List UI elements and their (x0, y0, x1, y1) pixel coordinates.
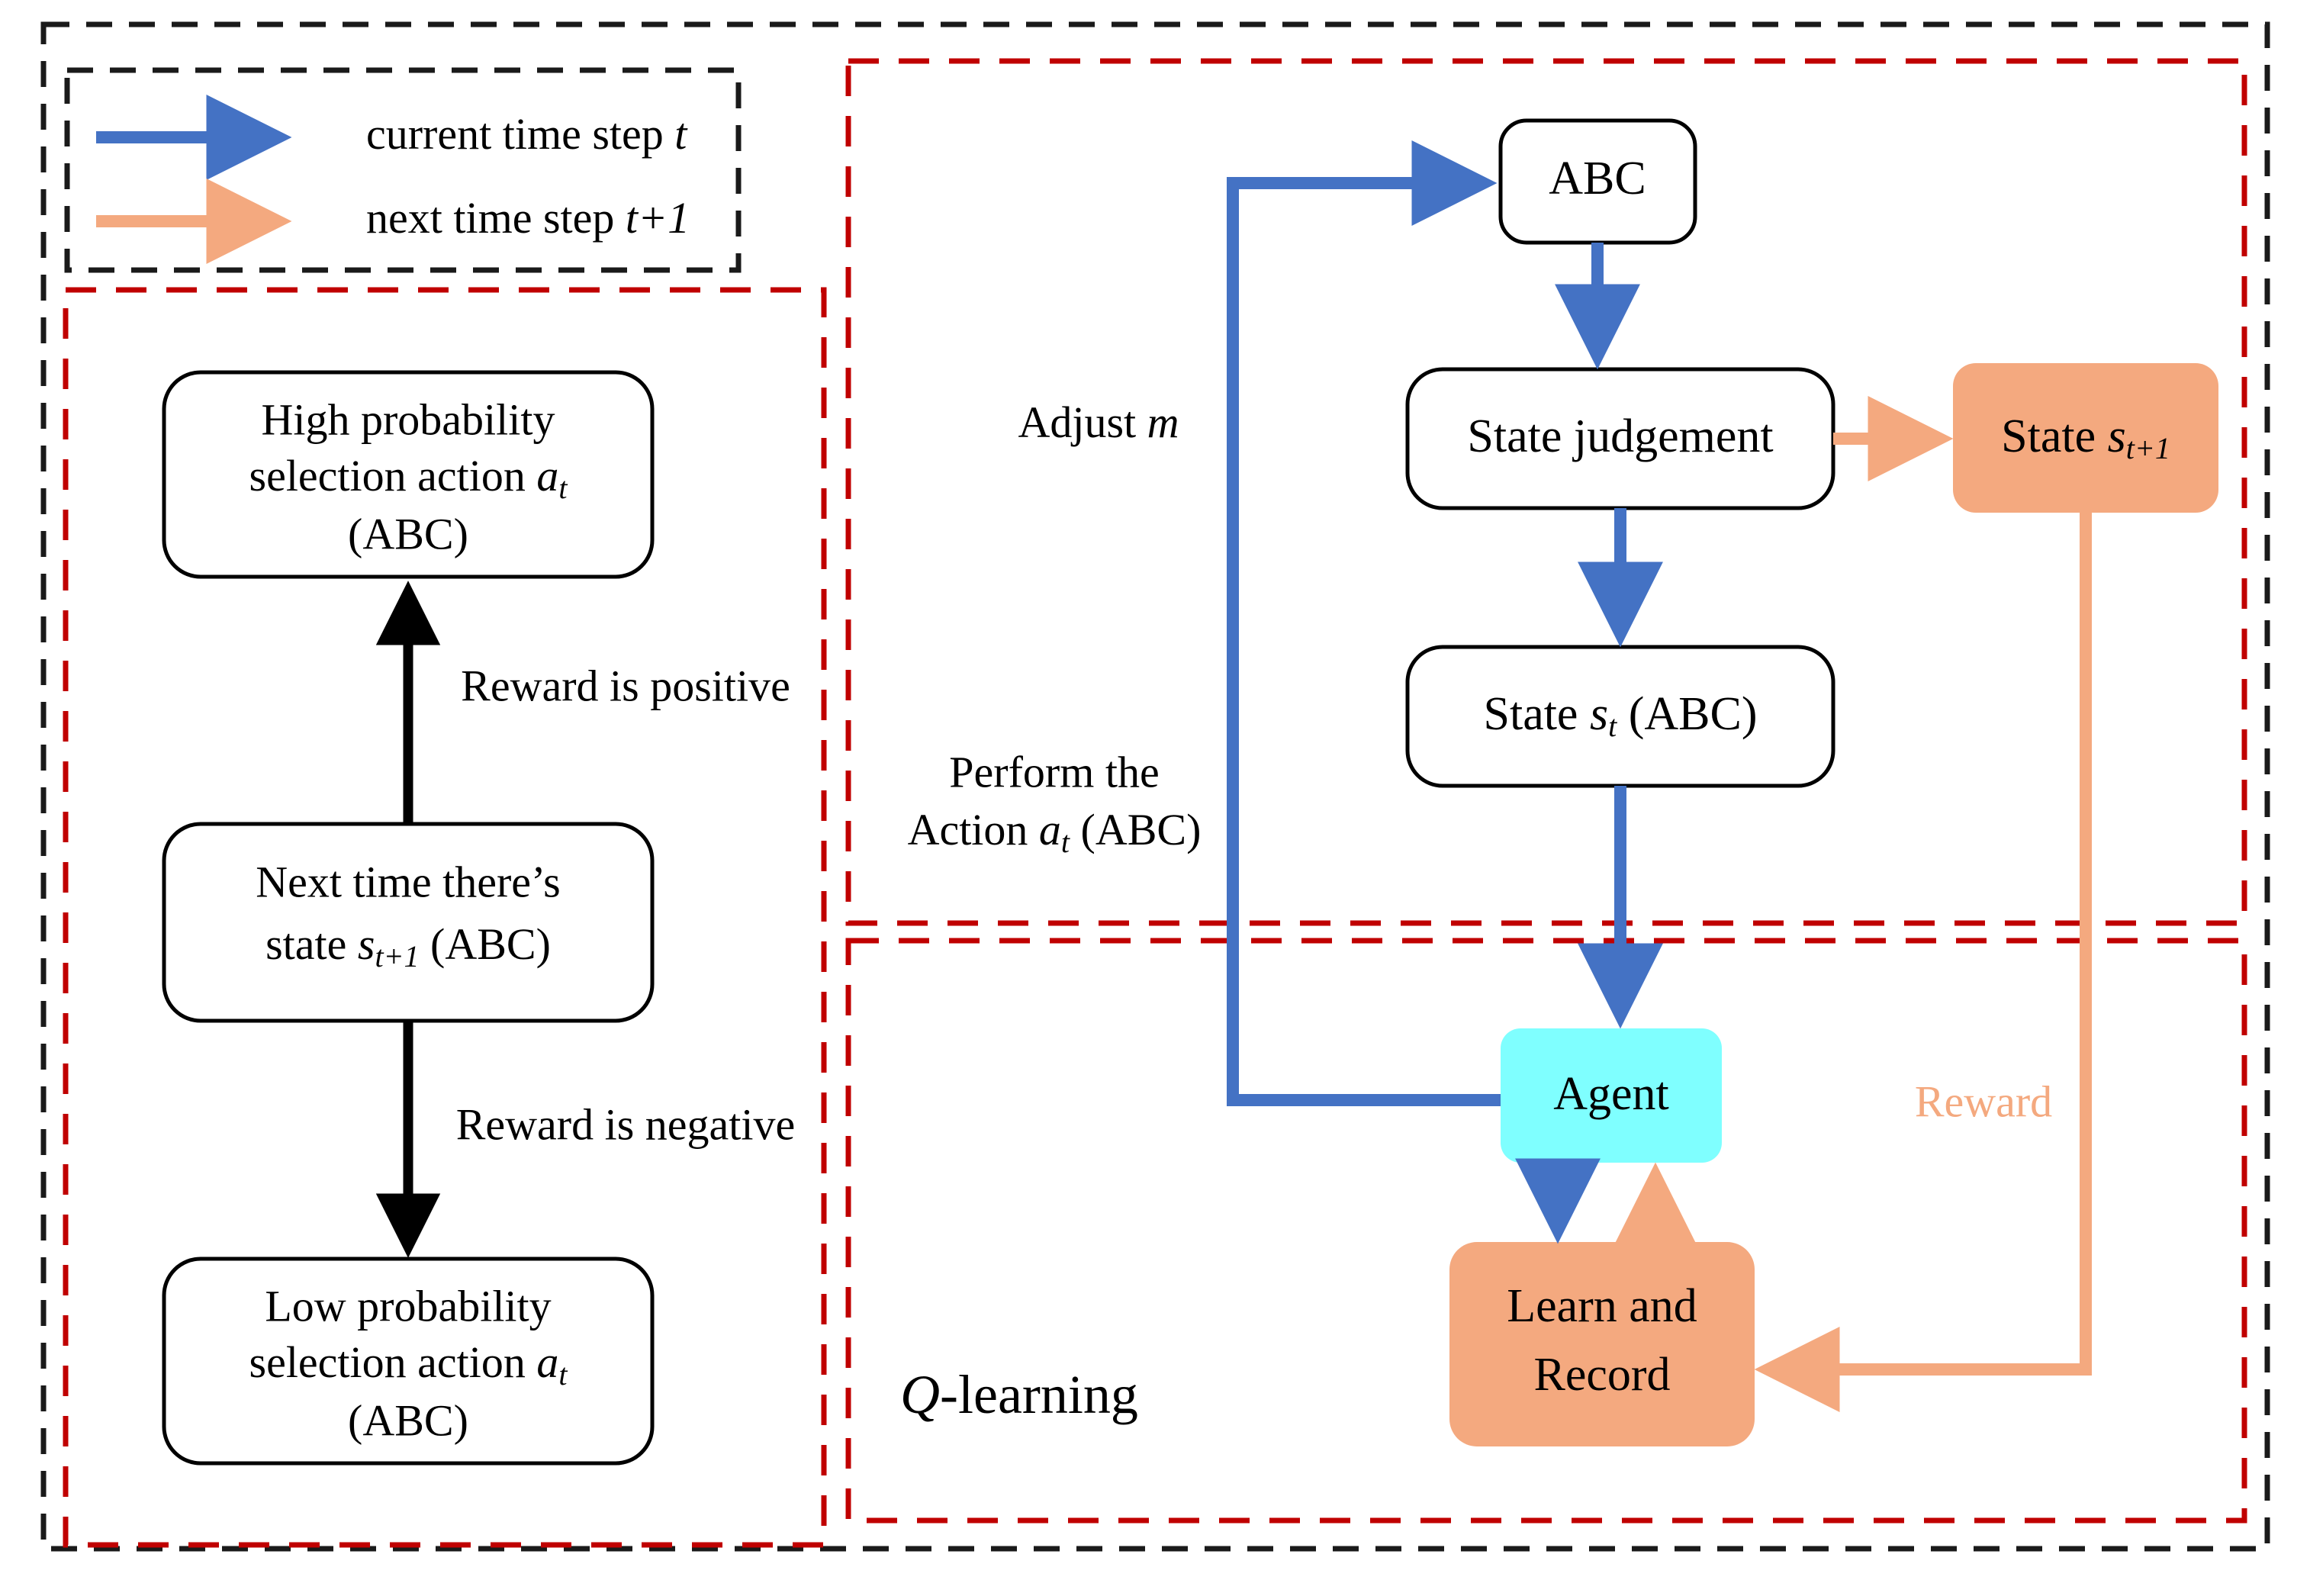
low-probability-line3: (ABC) (348, 1395, 468, 1445)
state-current-label: State st (ABC) (1483, 688, 1757, 743)
figure-canvas: current time step t next time step t+1 H… (0, 0, 2310, 1596)
high-probability-line2: selection action at (249, 451, 568, 505)
reward-positive-label: Reward is positive (461, 661, 790, 710)
abc-box-label: ABC (1549, 153, 1646, 204)
legend-label-next: next time step t+1 (366, 193, 690, 243)
legend-label-current: current time step t (366, 109, 688, 159)
learn-and-record-line1: Learn and (1507, 1280, 1697, 1332)
low-probability-line1: Low probability (265, 1281, 551, 1331)
reward-negative-label: Reward is negative (456, 1099, 796, 1149)
perform-action-line1: Perform the (949, 747, 1159, 796)
high-probability-line1: High probability (261, 394, 555, 444)
high-probability-line3: (ABC) (348, 509, 468, 558)
adjust-m-label: Adjust m (1018, 397, 1179, 447)
learn-and-record-box (1449, 1242, 1755, 1446)
perform-action-line2: Action at (ABC) (908, 805, 1202, 859)
flowchart-svg: current time step t next time step t+1 H… (0, 0, 2310, 1596)
q-learning-label: Q-learning (900, 1364, 1138, 1425)
agent-label: Agent (1553, 1068, 1669, 1120)
low-probability-line2: selection action at (249, 1337, 568, 1392)
arrow-adjust-m-path (1233, 183, 1501, 1100)
state-judgement-label: State judgement (1467, 410, 1773, 462)
reward-label: Reward (1915, 1076, 2052, 1126)
learn-and-record-line2: Record (1533, 1349, 1670, 1401)
next-time-state-line1: Next time there’s (256, 857, 560, 906)
next-time-state-box (164, 824, 652, 1021)
